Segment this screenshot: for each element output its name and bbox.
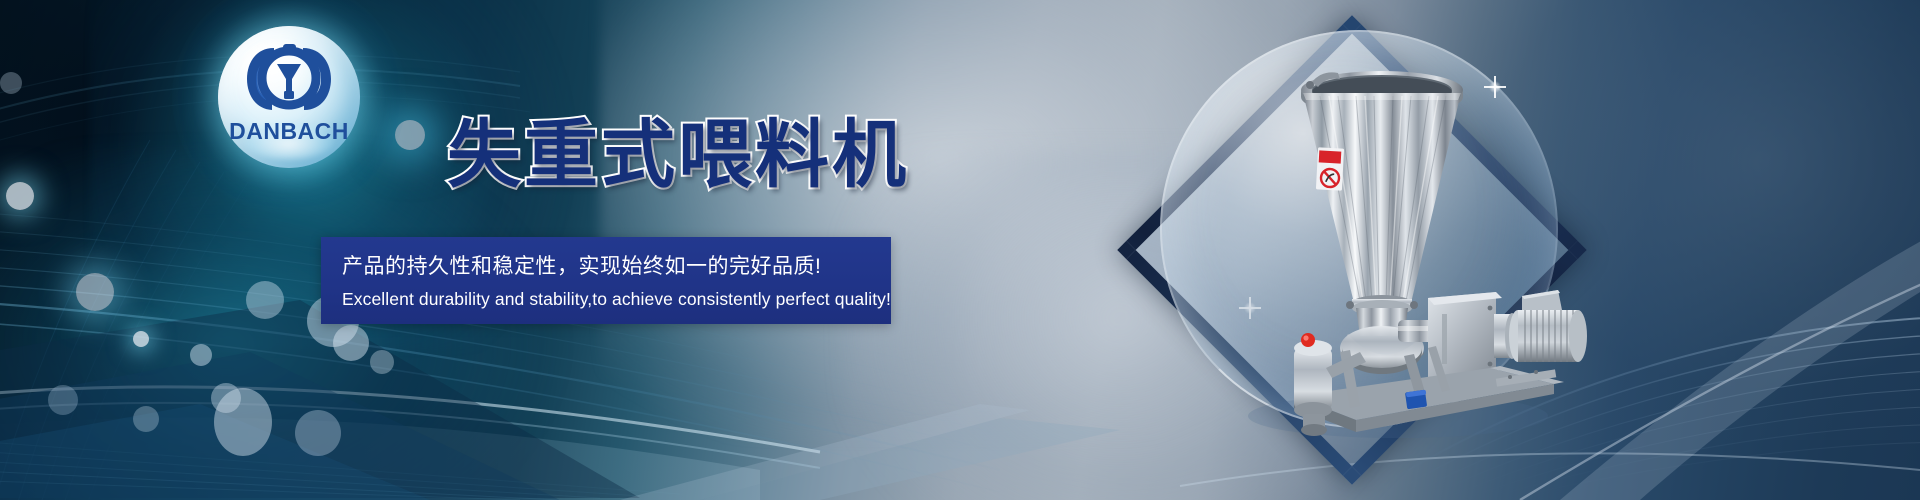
bokeh-circle-icon [133,331,149,347]
bokeh-circle-icon [333,325,369,361]
page-title: 失重式喂料机 [447,118,909,192]
tagline-chinese: 产品的持久性和稳定性，实现始终如一的完好品质! [342,250,891,280]
tagline-box: 产品的持久性和稳定性，实现始终如一的完好品质! Excellent durabi… [321,237,891,324]
bokeh-circle-icon [6,182,34,210]
loss-in-weight-feeder-icon [1098,0,1606,500]
danbach-monogram-icon [218,42,360,116]
promo-banner: DANBACH 失重式喂料机 产品的持久性和稳定性，实现始终如一的完好品质! E… [0,0,1920,500]
product-showcase [1098,0,1606,500]
bokeh-circle-icon [76,273,114,311]
bokeh-circle-icon [370,350,394,374]
bokeh-circle-icon [133,406,159,432]
bokeh-circle-icon [0,72,22,94]
bokeh-circle-icon [190,344,212,366]
brand-wordmark: DANBACH [218,118,360,145]
bokeh-circle-icon [48,385,78,415]
bokeh-circle-icon [246,281,284,319]
brand-logo[interactable]: DANBACH [218,26,360,168]
bokeh-circle-icon [295,410,341,456]
tagline-english: Excellent durability and stability,to ac… [342,289,891,310]
bokeh-circle-icon [214,388,272,456]
